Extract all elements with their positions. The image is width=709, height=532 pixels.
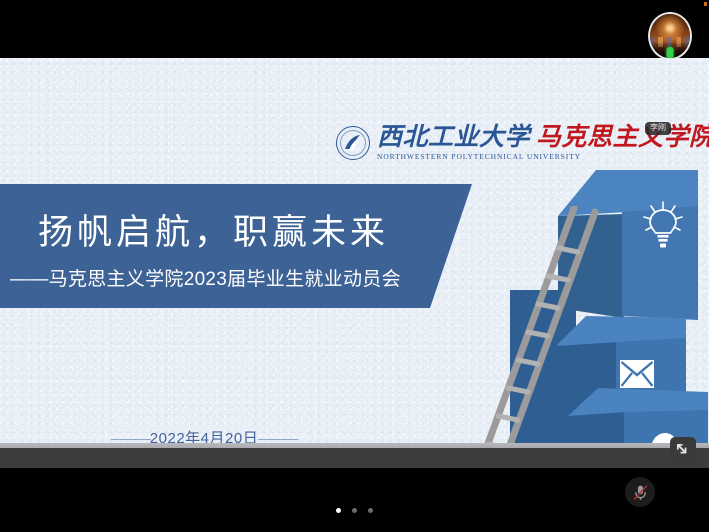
npu-emblem-icon [336, 126, 370, 160]
date-dash-right: ——— [258, 430, 297, 443]
video-call-screen: 西北工业大学 马克思主义学院 NORTHWESTERN POLYTECHNICA… [0, 0, 709, 532]
lightbulb-icon [640, 200, 686, 252]
ladder-icon [470, 206, 610, 443]
toolbar-strip [0, 448, 709, 468]
page-title: 扬帆启航，职赢未来 [38, 204, 389, 255]
title-banner: 扬帆启航，职赢未来 ——马克思主义学院2023届毕业生就业动员会 [0, 184, 472, 308]
bottom-black-band [0, 468, 709, 532]
slide-artwork [470, 58, 709, 443]
corner-indicator [704, 2, 707, 6]
microphone-muted-icon[interactable] [625, 477, 655, 507]
slide-date: ———2022年4月20日——— [0, 427, 408, 443]
top-black-band [0, 0, 709, 58]
shrink-arrow-glyph [676, 443, 691, 458]
page-dot-2[interactable] [352, 508, 357, 513]
page-indicator [0, 508, 709, 513]
date-text: 2022年4月20日 [150, 430, 258, 443]
date-dash-left: ——— [111, 430, 150, 443]
page-subtitle: ——马克思主义学院2023届毕业生就业动员会 [10, 264, 401, 291]
shared-slide[interactable]: 西北工业大学 马克思主义学院 NORTHWESTERN POLYTECHNICA… [0, 58, 709, 443]
self-view-thumbnail[interactable] [648, 12, 692, 60]
emblem-wing-icon [343, 134, 363, 152]
microphone-glyph [631, 483, 650, 502]
shrink-arrow-icon[interactable] [670, 437, 696, 463]
page-dot-1[interactable] [336, 508, 341, 513]
page-dot-3[interactable] [368, 508, 373, 513]
envelope-icon [620, 360, 654, 388]
